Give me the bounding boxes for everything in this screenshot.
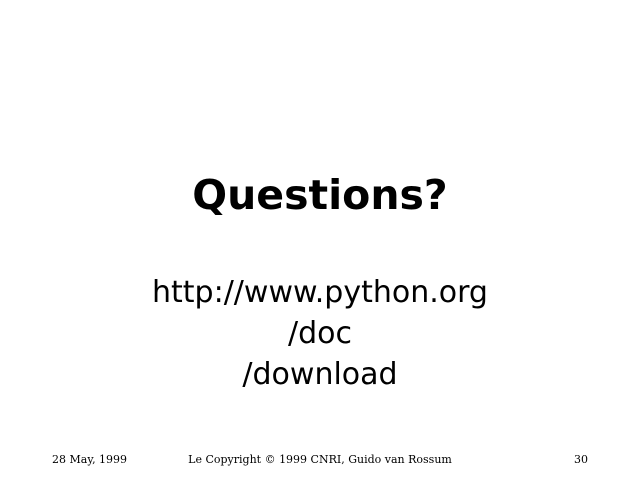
- body-line-doc-path: /doc: [0, 313, 640, 354]
- body-line-download-path: /download: [0, 354, 640, 395]
- slide-body-text: http://www.python.org /doc /download: [0, 272, 640, 395]
- slide-footer: 28 May, 1999 Le Copyright © 1999 CNRI, G…: [0, 453, 640, 471]
- body-line-url: http://www.python.org: [0, 272, 640, 313]
- footer-page-number: 30: [574, 453, 588, 467]
- page-title: Questions?: [0, 171, 640, 219]
- presentation-slide: Questions? http://www.python.org /doc /d…: [0, 0, 640, 480]
- footer-copyright: Le Copyright © 1999 CNRI, Guido van Ross…: [0, 453, 640, 467]
